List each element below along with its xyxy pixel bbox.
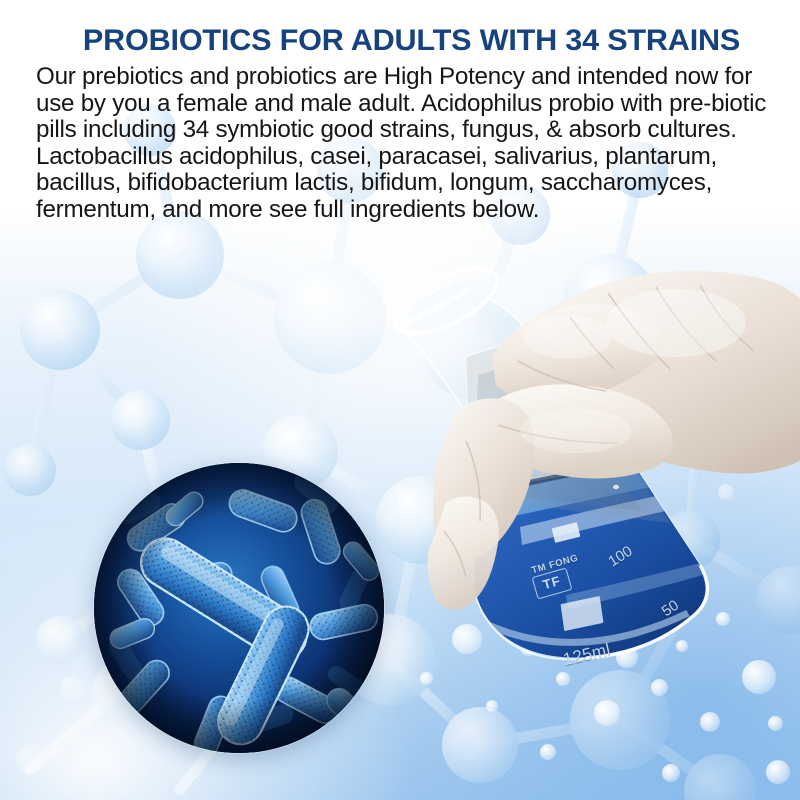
- flask-and-gloved-hand-photo: [370, 265, 800, 725]
- body-description: Our prebiotics and probiotics are High P…: [36, 64, 778, 224]
- page-title: PROBIOTICS FOR ADULTS WITH 34 STRAINS: [28, 26, 795, 56]
- bacteria-microscopy-inset: [94, 463, 384, 753]
- product-infographic-poster: TM FONG TF 100 50 125ml: [0, 0, 800, 800]
